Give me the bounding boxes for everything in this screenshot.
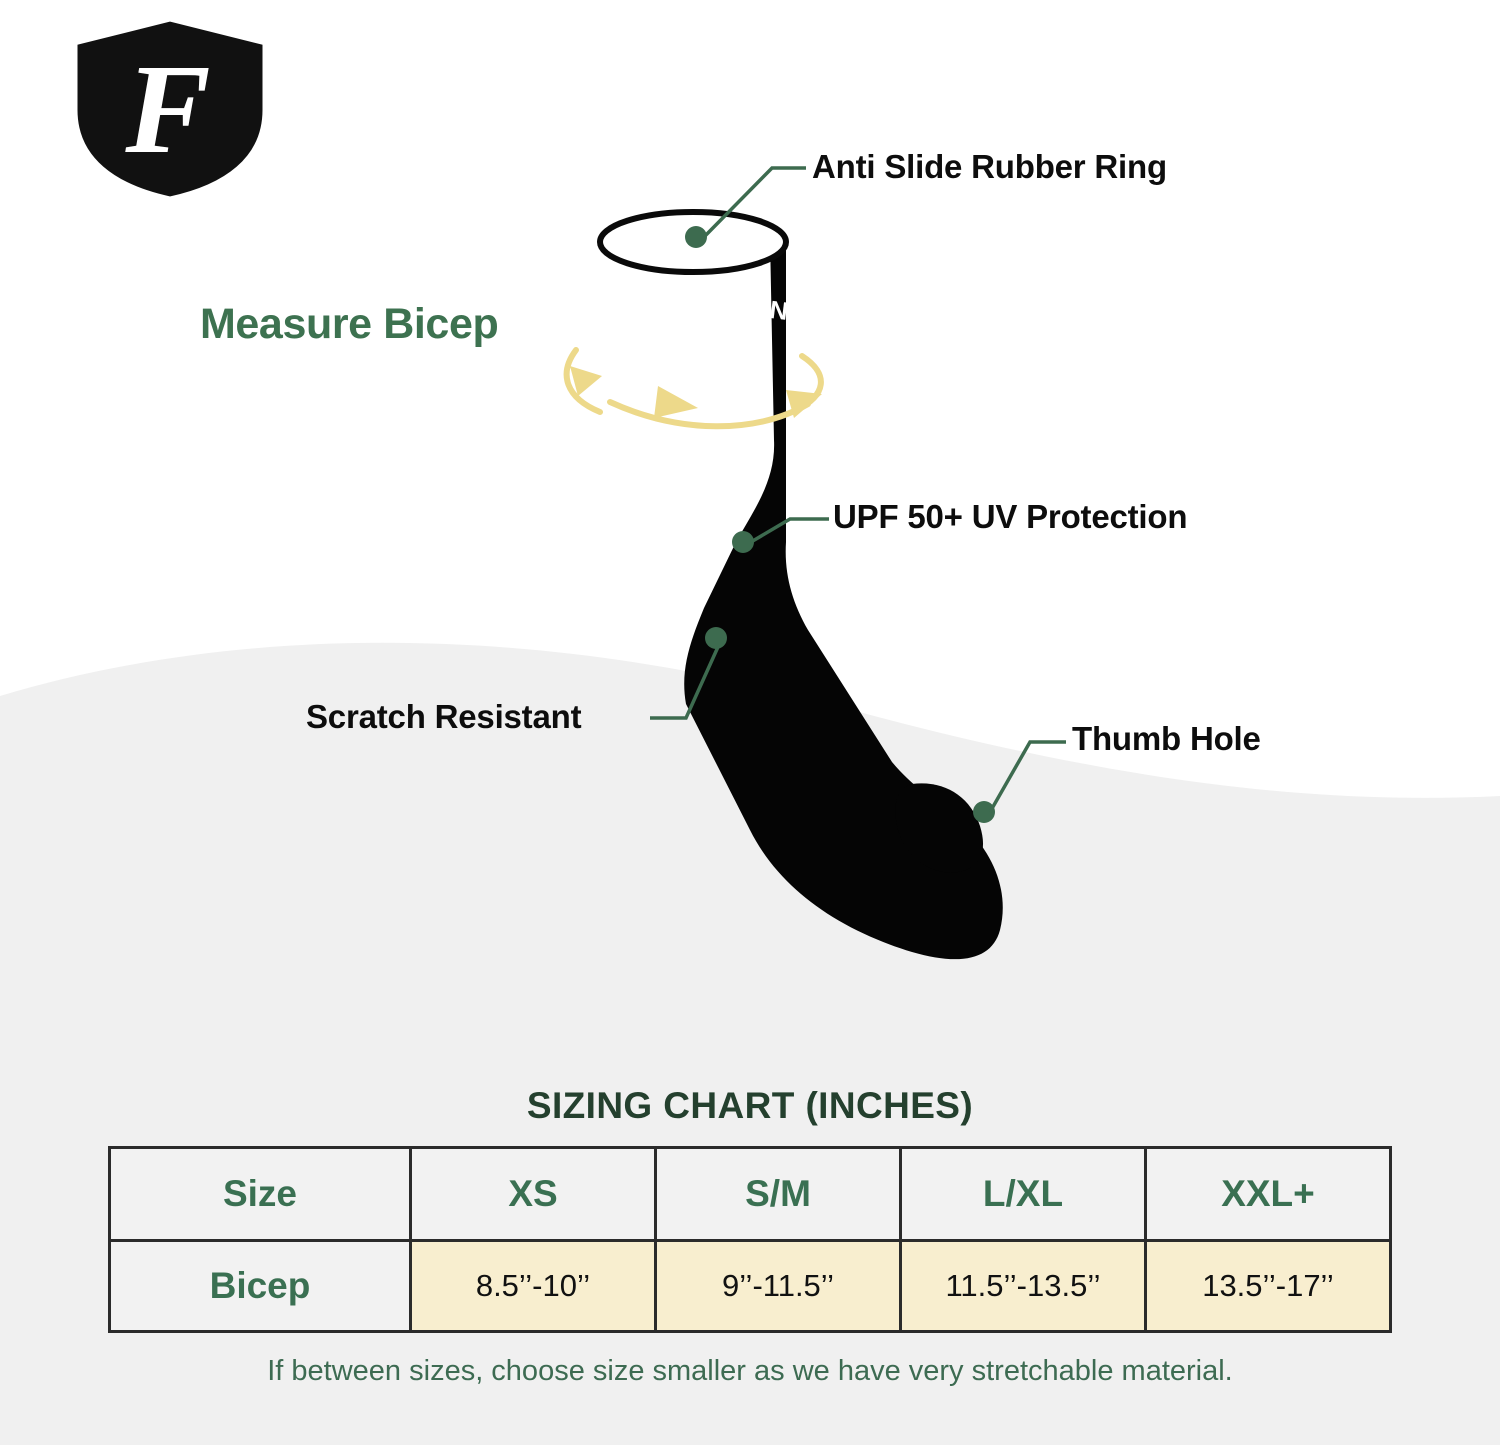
sizing-chart-table: Size XS S/M L/XL XXL+ Bicep 8.5’’-10’’ 9…	[108, 1146, 1392, 1333]
table-row: Bicep 8.5’’-10’’ 9’’-11.5’’ 11.5’’-13.5’…	[110, 1241, 1391, 1332]
callout-label-anti-slide-rubber-ring: Anti Slide Rubber Ring	[812, 148, 1167, 186]
header-cell-xxl: XXL+	[1146, 1148, 1391, 1241]
callout-label-thumb-hole: Thumb Hole	[1072, 720, 1261, 758]
header-cell-lxl: L/XL	[901, 1148, 1146, 1241]
table-header-row: Size XS S/M L/XL XXL+	[110, 1148, 1391, 1241]
header-cell-sm: S/M	[656, 1148, 901, 1241]
measure-bicep-label: Measure Bicep	[200, 300, 498, 349]
header-cell-size: Size	[110, 1148, 411, 1241]
header-cell-xs: XS	[411, 1148, 656, 1241]
sizing-chart-table-wrapper: Size XS S/M L/XL XXL+ Bicep 8.5’’-10’’ 9…	[108, 1146, 1392, 1333]
cell-bicep-sm: 9’’-11.5’’	[656, 1241, 901, 1332]
cell-bicep-lxl: 11.5’’-13.5’’	[901, 1241, 1146, 1332]
sizing-footnote: If between sizes, choose size smaller as…	[0, 1355, 1500, 1388]
cell-bicep-xs: 8.5’’-10’’	[411, 1241, 656, 1332]
sizing-chart-title: SIZING CHART (INCHES)	[0, 1085, 1500, 1127]
infographic-canvas: F Farmers DEFENSE	[0, 0, 1500, 1445]
row-label-bicep: Bicep	[110, 1241, 411, 1332]
callout-label-upf-uv-protection: UPF 50+ UV Protection	[833, 498, 1187, 536]
cell-bicep-xxl: 13.5’’-17’’	[1146, 1241, 1391, 1332]
callout-label-scratch-resistant: Scratch Resistant	[306, 698, 581, 736]
